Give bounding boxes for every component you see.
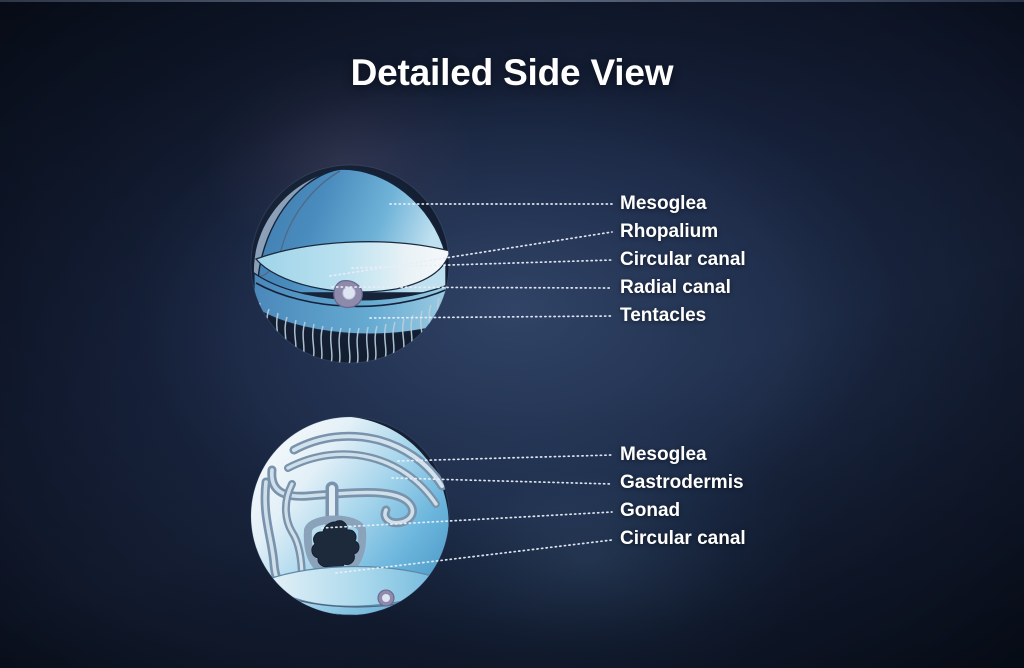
label-rhopalium[interactable]: Rhopalium — [620, 218, 746, 246]
label-tentacles[interactable]: Tentacles — [620, 302, 746, 330]
label-gonad[interactable]: Gonad — [620, 497, 746, 525]
subumbrella-band — [266, 567, 444, 607]
label-group-side-view: Mesoglea Rhopalium Circular canal Radial… — [620, 190, 746, 330]
label-gastrodermis[interactable]: Gastrodermis — [620, 469, 746, 497]
label-mesoglea[interactable]: Mesoglea — [620, 190, 746, 218]
label-circular-canal[interactable]: Circular canal — [620, 246, 746, 274]
figure-jellyfish-cross-section — [236, 412, 468, 632]
label-group-cross-section: Mesoglea Gastrodermis Gonad Circular can… — [620, 441, 746, 553]
label-circular-canal[interactable]: Circular canal — [620, 525, 746, 553]
side-view-disc-contents — [251, 165, 450, 368]
background-vignette — [0, 0, 1024, 668]
page-title: Detailed Side View — [0, 52, 1024, 94]
label-radial-canal[interactable]: Radial canal — [620, 274, 746, 302]
rhopalium-marker — [378, 590, 394, 606]
label-mesoglea[interactable]: Mesoglea — [620, 441, 746, 469]
diagram-canvas: Detailed Side View — [0, 0, 1024, 668]
rhopalium-marker — [334, 281, 362, 308]
figure-jellyfish-side-view — [236, 163, 468, 369]
top-edge-highlight — [0, 0, 1024, 2]
